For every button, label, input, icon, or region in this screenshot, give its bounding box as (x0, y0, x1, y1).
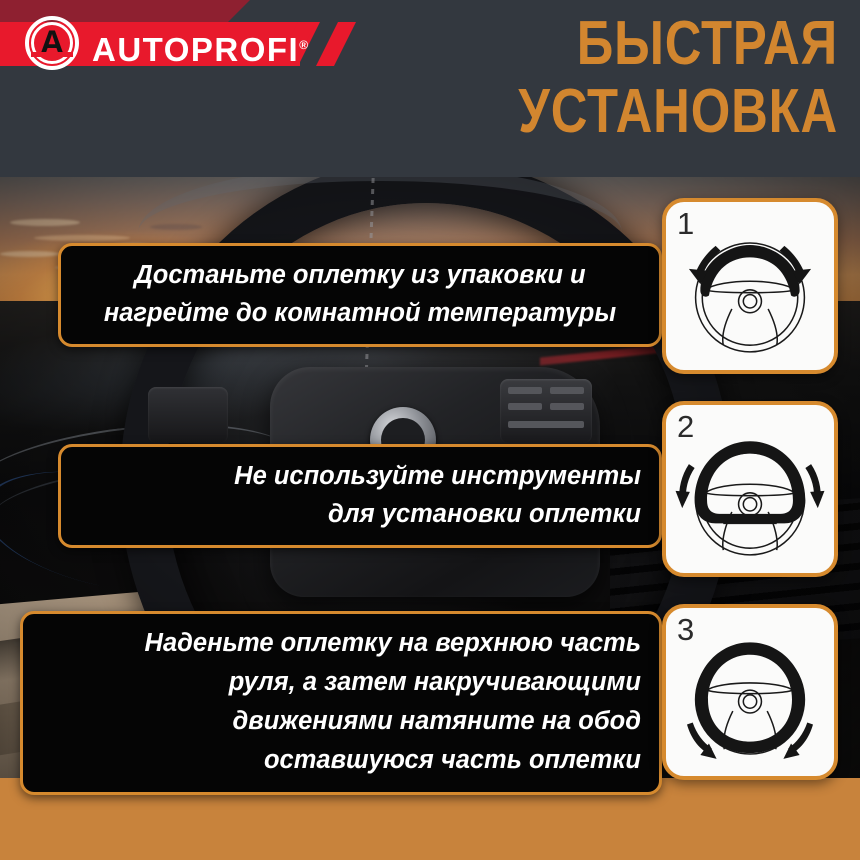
steering-wheel-cover-full-icon (666, 608, 834, 776)
brand-text: AUTOPROFI (92, 31, 299, 68)
autoprofi-logo-icon: A (25, 16, 79, 70)
page-title: БЫСТРАЯ УСТАНОВКА (379, 10, 838, 146)
title-line-2: УСТАНОВКА (379, 78, 838, 146)
steering-wheel-cover-sides-icon (666, 405, 834, 573)
steering-wheel-cover-top-icon (666, 202, 834, 370)
trademark-symbol: ® (299, 38, 308, 52)
promo-infographic: A AUTOPROFI® БЫСТРАЯ УСТАНОВКА Достаньте… (0, 0, 860, 860)
header-red-stripe-2 (316, 22, 356, 66)
header-bar: A AUTOPROFI® БЫСТРАЯ УСТАНОВКА (0, 0, 860, 177)
title-line-1: БЫСТРАЯ (379, 10, 838, 78)
step-1-illustration-card: 1 (662, 198, 838, 374)
cover-full-ring (696, 642, 805, 753)
step-3-illustration-card: 3 (662, 604, 838, 780)
step-1-line-2: нагрейте до комнатной температуры (79, 294, 641, 332)
step-1-text-box: Достаньте оплетку из упаковки и нагрейте… (58, 243, 662, 347)
step-2-line-2: для установки оплетки (79, 495, 641, 533)
step-2-illustration-card: 2 (662, 401, 838, 577)
brand-name: AUTOPROFI® (92, 27, 308, 68)
step-2-line-1: Не используйте инструменты (79, 457, 641, 495)
step-3-text-box: Наденьте оплетку на верхнюю часть руля, … (20, 611, 662, 795)
arrow-right (805, 464, 824, 508)
step-3-line-4: оставшуюся часть оплетки (41, 741, 641, 780)
arrow-left (676, 464, 695, 508)
step-2-text-box: Не используйте инструменты для установки… (58, 444, 662, 548)
step-3-line-3: движениями натяните на обод (41, 702, 641, 741)
step-1-line-1: Достаньте оплетку из упаковки и (79, 256, 641, 294)
step-3-line-1: Наденьте оплетку на верхнюю часть (41, 624, 641, 663)
step-3-line-2: руля, а затем накручивающими (41, 663, 641, 702)
logo-letter: A (25, 21, 79, 65)
